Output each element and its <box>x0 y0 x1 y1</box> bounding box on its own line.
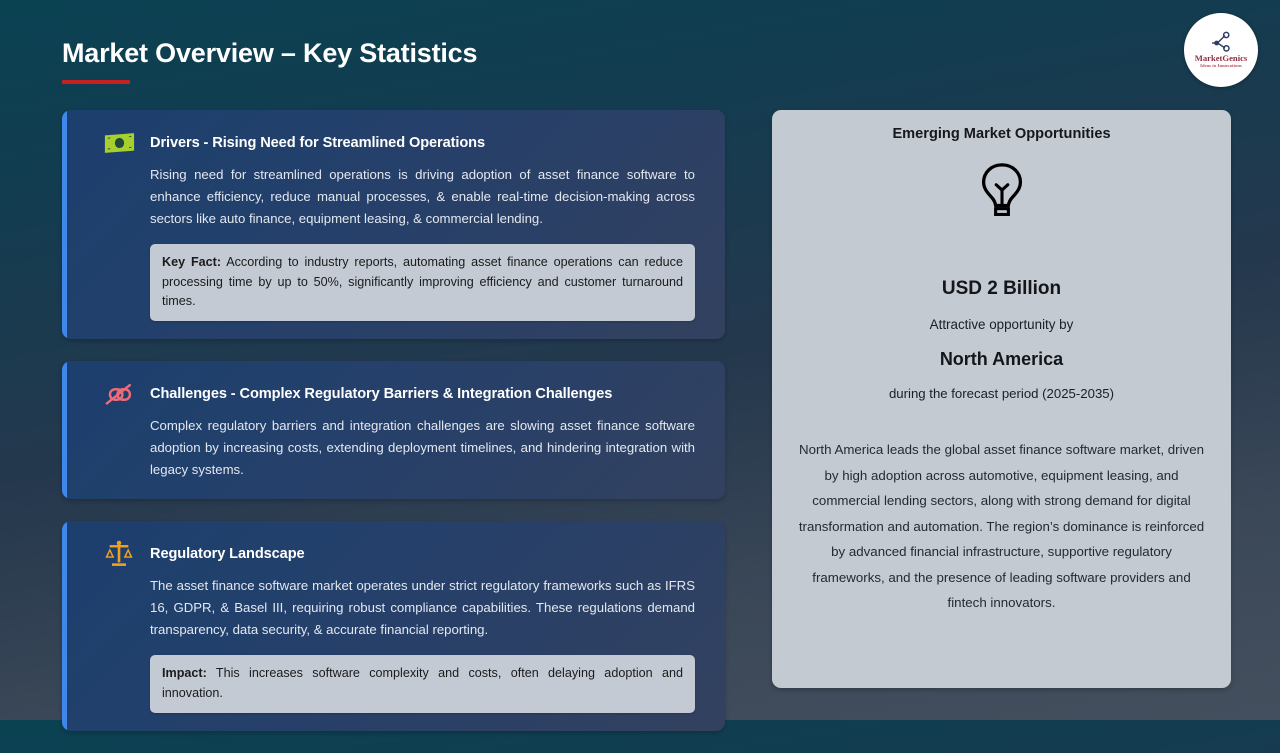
title-underline-rule <box>62 80 130 84</box>
key-fact-callout: Key Fact: According to industry reports,… <box>150 244 695 321</box>
stat-subtitle: Attractive opportunity by <box>930 317 1074 332</box>
header: Market Overview – Key Statistics <box>62 38 477 84</box>
card-header: Regulatory Landscape <box>102 539 703 569</box>
card-header: Challenges - Complex Regulatory Barriers… <box>102 379 703 409</box>
callout-label: Key Fact: <box>162 255 221 269</box>
network-nodes-icon <box>1208 31 1234 53</box>
callout-label: Impact: <box>162 666 207 680</box>
banknote-icon <box>102 128 136 158</box>
brand-logo: MarketGenics Ideas to Innovations <box>1184 13 1258 87</box>
card-drivers: Drivers - Rising Need for Streamlined Op… <box>62 110 725 339</box>
scales-of-justice-icon <box>102 539 136 569</box>
page-title: Market Overview – Key Statistics <box>62 38 477 69</box>
card-title: Drivers - Rising Need for Streamlined Op… <box>150 135 485 151</box>
emerging-opportunities-panel: Emerging Market Opportunities USD 2 Bill… <box>772 110 1231 688</box>
impact-callout: Impact: This increases software complexi… <box>150 655 695 712</box>
callout-text: According to industry reports, automatin… <box>162 255 683 308</box>
logo-tagline: Ideas to Innovations <box>1200 64 1242 69</box>
card-title: Challenges - Complex Regulatory Barriers… <box>150 386 612 402</box>
card-title: Regulatory Landscape <box>150 546 305 562</box>
stat-value: USD 2 Billion <box>942 278 1061 300</box>
panel-description: North America leads the global asset fin… <box>794 437 1209 616</box>
card-accent-bar <box>62 521 67 730</box>
stat-region: North America <box>940 349 1063 370</box>
stat-forecast-period: during the forecast period (2025-2035) <box>889 386 1114 401</box>
lightbulb-icon <box>974 162 1030 222</box>
card-accent-bar <box>62 361 67 499</box>
statistics-card-list: Drivers - Rising Need for Streamlined Op… <box>62 110 725 753</box>
card-challenges: Challenges - Complex Regulatory Barriers… <box>62 361 725 499</box>
card-accent-bar <box>62 110 67 339</box>
logo-name: MarketGenics <box>1195 54 1248 63</box>
panel-title: Emerging Market Opportunities <box>892 126 1110 142</box>
broken-link-icon <box>102 379 136 409</box>
callout-text: This increases software complexity and c… <box>162 666 683 700</box>
card-body-text: The asset finance software market operat… <box>150 575 695 641</box>
card-header: Drivers - Rising Need for Streamlined Op… <box>102 128 703 158</box>
card-body-text: Rising need for streamlined operations i… <box>150 164 695 230</box>
card-body-text: Complex regulatory barriers and integrat… <box>150 415 695 481</box>
card-regulatory-landscape: Regulatory Landscape The asset finance s… <box>62 521 725 730</box>
